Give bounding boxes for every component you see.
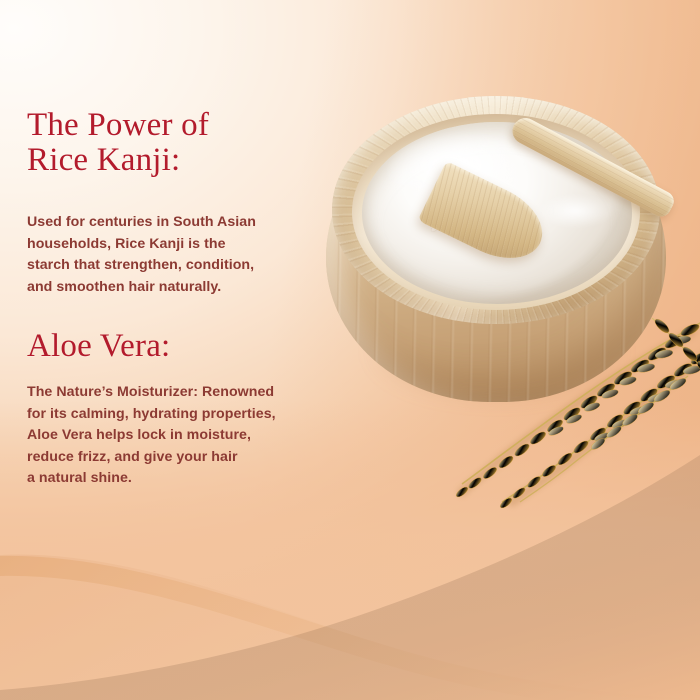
- section-body-rice-kanji: Used for centuries in South Asian househ…: [27, 212, 339, 298]
- liquid-highlight-secondary: [536, 194, 614, 228]
- section-body-aloe-vera: The Nature’s Moisturizer: Renowned for i…: [27, 382, 339, 490]
- promo-graphic: The Power of Rice Kanji: Used for centur…: [0, 0, 700, 700]
- section-heading-rice-kanji: The Power of Rice Kanji:: [27, 108, 327, 179]
- section-heading-aloe-vera: Aloe Vera:: [27, 329, 327, 364]
- rice-stalks: [438, 318, 700, 518]
- product-photo: [318, 72, 700, 472]
- rice-stalk-2: [499, 348, 700, 510]
